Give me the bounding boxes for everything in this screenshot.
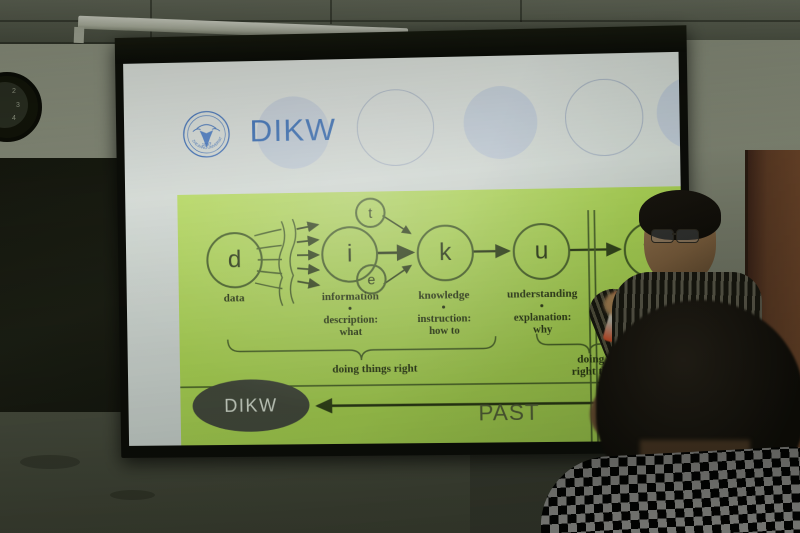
label-understanding: understanding [481,287,604,301]
zhejiang-university-logo-icon: 1897 ZHEJIANG UNIVERSITY [182,110,231,159]
clock-numeral: 2 [12,88,16,95]
brace-label-doing-things-right: doing things right [299,362,452,376]
decorative-circle [564,78,644,157]
label-information: information [300,290,402,304]
desc-information: description: what [298,314,404,339]
light-fixture-cap [74,27,85,43]
bullet-dot [442,306,445,309]
ceiling-grid-line [520,0,522,22]
desc-line-1: instruction: [417,313,471,325]
classroom-scene: 2 3 4 [0,0,800,533]
ceiling-grid-line [330,0,332,24]
presenter-glasses-right-lens [676,229,699,243]
audience-shirt-shading [537,444,800,533]
decorative-circle [463,85,538,159]
desc-line-2: how to [429,325,460,337]
clock-face: 2 3 4 [0,82,28,128]
desc-understanding: explanation: why [489,312,596,337]
desc-line-2: why [533,324,552,335]
slide-header: 1897 ZHEJIANG UNIVERSITY DIKW [123,52,681,196]
clock-numeral: 3 [16,102,20,109]
bullet-dot [348,307,351,310]
bullet-dot [540,304,543,307]
era-label-past: PAST [478,399,540,426]
presenter-glasses-bridge [672,233,677,235]
wall-scuff [20,455,80,469]
wall-scuff [110,490,155,500]
clock-numeral: 4 [12,115,16,122]
slide-title: DIKW [249,112,336,150]
decorative-circle [356,88,435,166]
desc-line-1: description: [323,315,378,327]
desc-knowledge: instruction: how to [391,313,497,338]
label-data: data [199,292,270,305]
desc-line-2: what [340,327,363,338]
presenter-glasses-left-lens [651,229,674,243]
desc-line-1: explanation: [514,312,572,324]
